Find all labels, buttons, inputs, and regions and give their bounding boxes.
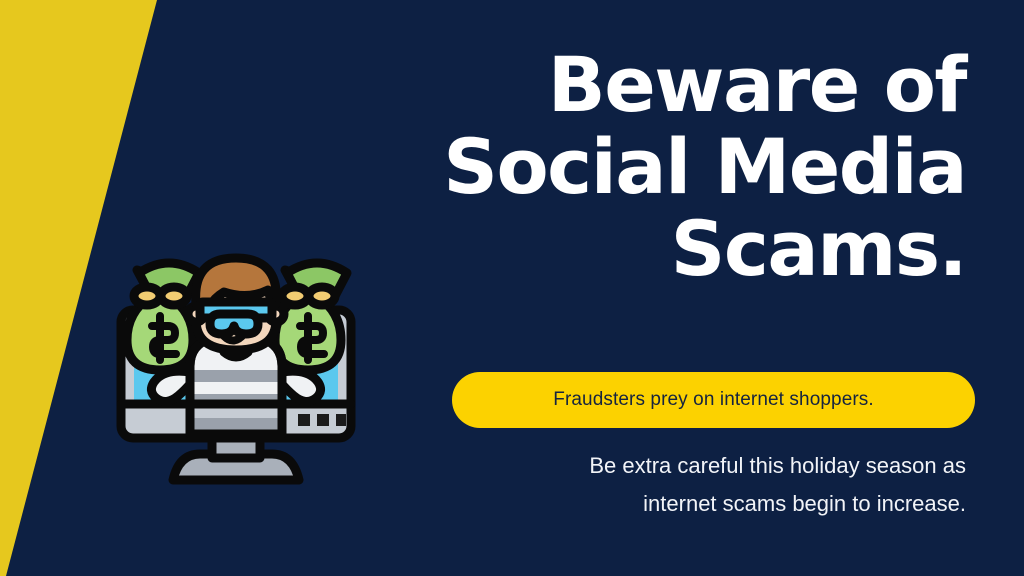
- headline-line-1: Beware of: [380, 44, 966, 126]
- tagline-text: Fraudsters prey on internet shoppers.: [553, 389, 874, 411]
- thief-with-money-bags-on-monitor-illustration: [112, 252, 360, 496]
- headline-block: Beware of Social Media Scams.: [380, 44, 966, 290]
- headline-line-2: Social Media: [380, 126, 966, 208]
- body-copy: Be extra careful this holiday season as …: [430, 447, 966, 523]
- body-line-2: internet scams begin to increase.: [430, 485, 966, 523]
- tagline-pill: Fraudsters prey on internet shoppers.: [452, 372, 975, 428]
- poster-canvas: Beware of Social Media Scams. Fraudsters…: [0, 0, 1024, 576]
- headline-line-3: Scams.: [380, 208, 966, 290]
- page-title: Beware of Social Media Scams.: [380, 44, 966, 290]
- body-line-1: Be extra careful this holiday season as: [430, 447, 966, 485]
